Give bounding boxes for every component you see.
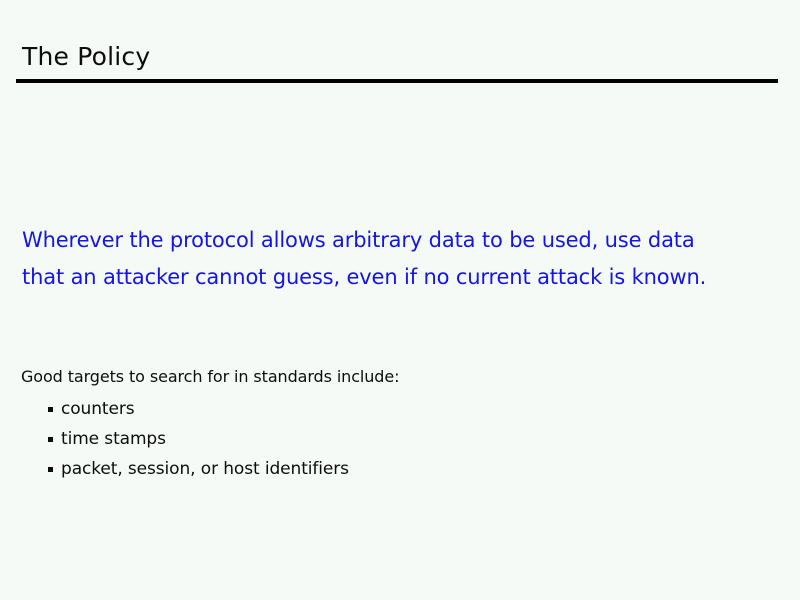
square-bullet-icon bbox=[48, 407, 53, 412]
targets-bullet-list: counters time stamps packet, session, or… bbox=[48, 394, 349, 484]
list-item-label: time stamps bbox=[61, 424, 166, 454]
list-item-label: packet, session, or host identifiers bbox=[61, 454, 349, 484]
slide-canvas: The Policy Wherever the protocol allows … bbox=[0, 0, 800, 600]
targets-lead-in-text: Good targets to search for in standards … bbox=[21, 366, 399, 388]
policy-statement: Wherever the protocol allows arbitrary d… bbox=[22, 222, 774, 296]
list-item: time stamps bbox=[48, 424, 349, 454]
list-item: counters bbox=[48, 394, 349, 424]
list-item-label: counters bbox=[61, 394, 134, 424]
list-item: packet, session, or host identifiers bbox=[48, 454, 349, 484]
square-bullet-icon bbox=[48, 437, 53, 442]
title-underline-divider bbox=[16, 79, 778, 83]
square-bullet-icon bbox=[48, 467, 53, 472]
policy-statement-line-2: that an attacker cannot guess, even if n… bbox=[22, 259, 774, 296]
policy-statement-line-1: Wherever the protocol allows arbitrary d… bbox=[22, 222, 774, 259]
page-title: The Policy bbox=[22, 42, 150, 72]
